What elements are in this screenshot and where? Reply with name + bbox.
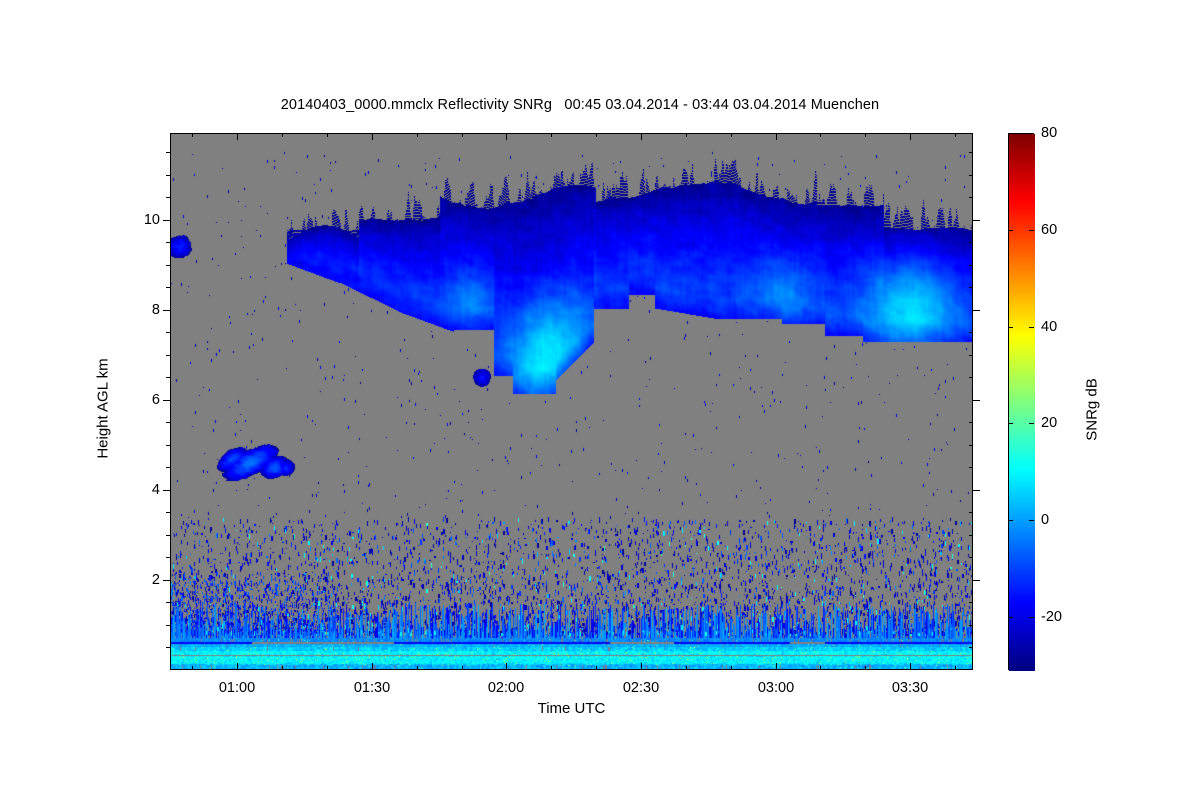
x-tick-minor [551,666,552,670]
y-tick-minor [166,602,170,603]
y-tick-minor-right [969,512,973,513]
x-tick-label-3: 02:30 [623,680,659,696]
colorbar-tick [1008,133,1013,134]
colorbar-tick-right [1029,230,1034,231]
x-tick-major-top [641,133,642,140]
y-tick-label-2: 6 [114,392,160,408]
x-tick-label-4: 03:00 [758,680,794,696]
x-tick-minor [417,666,418,670]
x-tick-minor-top [282,133,283,137]
x-tick-label-5: 03:30 [892,680,928,696]
colorbar-tick-right [1029,133,1034,134]
y-tick-major [163,310,170,311]
y-tick-minor [166,535,170,536]
x-tick-minor [820,666,821,670]
y-tick-label-3: 8 [114,302,160,318]
x-tick-minor-top [820,133,821,137]
y-tick-minor-right [969,355,973,356]
y-tick-minor-right [969,535,973,536]
page-title: 20140403_0000.mmclx Reflectivity SNRg 00… [0,97,1160,113]
colorbar-gradient [1008,133,1034,670]
y-tick-major [163,400,170,401]
colorbar-tick-label-0: 80 [1041,125,1057,141]
y-tick-minor-right [969,557,973,558]
radar-reflectivity-figure: 20140403_0000.mmclx Reflectivity SNRg 00… [0,0,1200,800]
y-tick-minor [166,377,170,378]
y-tick-major-right [973,220,980,221]
y-tick-minor [166,445,170,446]
y-tick-minor [166,242,170,243]
y-tick-minor-right [969,377,973,378]
y-tick-minor [166,467,170,468]
colorbar-label: SNRg dB [1084,310,1101,510]
y-tick-minor-right [969,647,973,648]
y-tick-minor-right [969,197,973,198]
y-tick-minor-right [969,175,973,176]
y-axis-label: Height AGL km [95,299,112,519]
x-tick-label-1: 01:30 [354,680,390,696]
y-tick-label-1: 4 [114,482,160,498]
y-tick-minor [166,625,170,626]
x-tick-minor [327,666,328,670]
y-tick-minor [166,512,170,513]
y-tick-minor [166,557,170,558]
colorbar-tick [1008,520,1013,521]
x-tick-minor [462,666,463,670]
colorbar-tick-right [1029,617,1034,618]
x-tick-major-top [237,133,238,140]
y-tick-minor [166,647,170,648]
colorbar-tick-label-5: -20 [1041,609,1062,625]
x-tick-minor-top [686,133,687,137]
y-tick-minor [166,355,170,356]
y-tick-major-right [973,400,980,401]
colorbar-tick [1008,423,1013,424]
y-tick-minor-right [969,445,973,446]
x-tick-major [776,663,777,670]
colorbar-tick-label-1: 60 [1041,222,1057,238]
x-tick-major-top [506,133,507,140]
colorbar-tick [1008,617,1013,618]
colorbar-tick-right [1029,423,1034,424]
y-tick-major [163,580,170,581]
x-tick-major-top [776,133,777,140]
x-tick-minor [192,666,193,670]
x-tick-minor-top [192,133,193,137]
y-tick-major [163,220,170,221]
y-tick-label-0: 2 [114,572,160,588]
x-tick-major [641,663,642,670]
x-tick-minor-top [551,133,552,137]
colorbar-tick-label-3: 20 [1041,415,1057,431]
x-tick-label-2: 02:00 [488,680,524,696]
x-tick-minor [686,666,687,670]
colorbar-tick-label-4: 0 [1041,512,1049,528]
colorbar-tick [1008,230,1013,231]
y-tick-minor [166,422,170,423]
y-tick-minor [166,287,170,288]
colorbar-tick-label-2: 40 [1041,319,1057,335]
y-tick-minor-right [969,422,973,423]
x-tick-label-0: 01:00 [219,680,255,696]
x-tick-minor [731,666,732,670]
x-tick-minor [865,666,866,670]
x-tick-minor [596,666,597,670]
x-tick-major [910,663,911,670]
colorbar-tick [1008,327,1013,328]
x-tick-minor [955,666,956,670]
x-tick-minor [282,666,283,670]
x-tick-minor-top [327,133,328,137]
x-tick-major-top [372,133,373,140]
x-tick-major [237,663,238,670]
y-tick-minor [166,332,170,333]
y-tick-minor-right [969,152,973,153]
plot-area [170,133,973,670]
x-tick-minor-top [596,133,597,137]
y-tick-minor [166,152,170,153]
colorbar [1008,133,1034,670]
y-tick-major-right [973,580,980,581]
x-tick-minor-top [955,133,956,137]
x-tick-minor-top [462,133,463,137]
y-tick-major [163,490,170,491]
y-tick-minor-right [969,467,973,468]
x-tick-major [372,663,373,670]
x-tick-minor-top [865,133,866,137]
heatmap-canvas [171,134,973,670]
x-tick-major-top [910,133,911,140]
x-axis-label: Time UTC [170,700,973,717]
y-tick-major-right [973,490,980,491]
y-tick-minor [166,265,170,266]
x-tick-minor-top [731,133,732,137]
y-tick-minor-right [969,625,973,626]
y-tick-minor-right [969,602,973,603]
x-tick-minor-top [417,133,418,137]
y-tick-minor-right [969,242,973,243]
y-tick-major-right [973,310,980,311]
y-tick-minor-right [969,265,973,266]
colorbar-tick-right [1029,520,1034,521]
y-tick-minor [166,197,170,198]
y-tick-minor-right [969,332,973,333]
y-tick-label-4: 10 [114,212,160,228]
colorbar-tick-right [1029,327,1034,328]
y-tick-minor [166,175,170,176]
y-tick-minor-right [969,287,973,288]
colorbar-canvas [1009,134,1035,671]
x-tick-major [506,663,507,670]
